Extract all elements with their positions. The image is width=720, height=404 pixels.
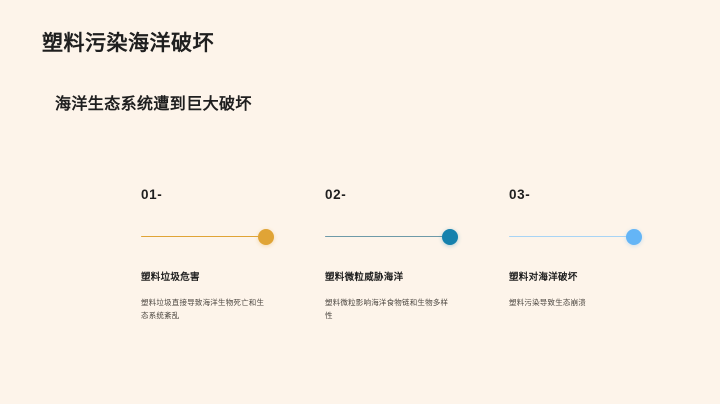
column-heading-1: 塑料垃圾危害 [141,272,274,284]
column-body-3: 塑料污染导致生态崩溃 [509,296,637,309]
slider-track-3 [509,236,635,238]
page-title: 塑料污染海洋破坏 [42,27,214,57]
column-number-2: 02- [325,188,458,202]
slider-knob-1[interactable] [258,229,274,245]
page-subtitle: 海洋生态系统遭到巨大破坏 [55,90,252,114]
feature-column-1: 01- 塑料垃圾危害 塑料垃圾直接导致海洋生物死亡和生态系统紊乱 [141,188,274,322]
column-body-1: 塑料垃圾直接导致海洋生物死亡和生态系统紊乱 [141,296,269,322]
progress-indicator-1 [141,229,274,245]
column-number-3: 03- [509,188,642,202]
column-heading-3: 塑料对海洋破坏 [509,272,642,284]
feature-column-2: 02- 塑料微粒威胁海洋 塑料微粒影响海洋食物链和生物多样性 [325,188,458,322]
slider-track-1 [141,236,267,238]
slide-canvas: 塑料污染海洋破坏 海洋生态系统遭到巨大破坏 01- 塑料垃圾危害 塑料垃圾直接导… [0,0,720,404]
slider-track-2 [325,236,451,238]
progress-indicator-3 [509,229,642,245]
progress-indicator-2 [325,229,458,245]
feature-columns: 01- 塑料垃圾危害 塑料垃圾直接导致海洋生物死亡和生态系统紊乱 02- 塑料微… [141,188,661,322]
slider-knob-3[interactable] [626,229,642,245]
column-number-1: 01- [141,188,274,202]
column-heading-2: 塑料微粒威胁海洋 [325,272,458,284]
column-body-2: 塑料微粒影响海洋食物链和生物多样性 [325,296,453,322]
feature-column-3: 03- 塑料对海洋破坏 塑料污染导致生态崩溃 [509,188,642,322]
slider-knob-2[interactable] [442,229,458,245]
